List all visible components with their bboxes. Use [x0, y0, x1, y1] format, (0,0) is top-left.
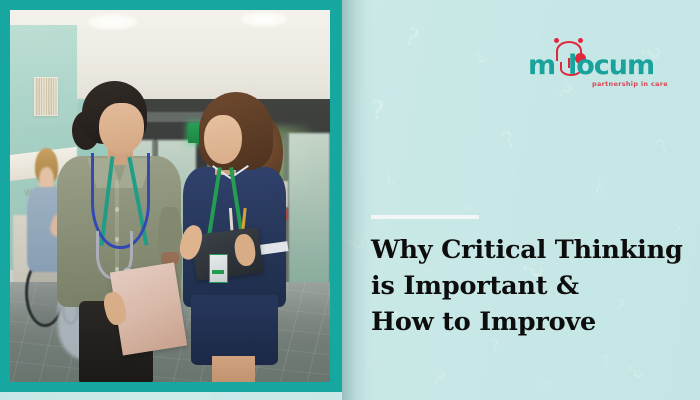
question-mark-icon: ?: [371, 96, 384, 125]
question-mark-icon: ?: [382, 167, 397, 189]
logo-text-locum: locum: [568, 52, 654, 79]
ceiling-light: [240, 12, 288, 27]
title-divider: [371, 215, 479, 219]
foreground-doctor: [48, 81, 189, 382]
headline-line: How to Improve: [371, 304, 681, 340]
question-mark-icon: ?: [499, 127, 520, 153]
question-mark-icon: ?: [653, 135, 673, 156]
stethoscope-earpiece-right: [578, 38, 583, 43]
question-mark-icon: ?: [599, 351, 612, 370]
mylocum-logo[interactable]: m locum partnership in care: [528, 36, 658, 94]
nurse-uniform-skirt: [191, 295, 278, 365]
doctor-face: [99, 103, 144, 154]
question-mark-icon: ?: [457, 201, 475, 216]
question-mark-icon: ?: [343, 237, 367, 249]
question-mark-icon: ?: [360, 351, 374, 368]
banner-canvas: ??????????????????????????: [0, 0, 700, 400]
nurse-legs: [212, 356, 256, 382]
id-badge: [209, 254, 228, 283]
photo-frame: WARD: [0, 0, 342, 392]
headline-line: is Important &: [371, 268, 681, 304]
question-mark-icon: ?: [534, 378, 550, 389]
hospital-corridor-scene: WARD: [10, 10, 330, 382]
question-mark-icon: ?: [594, 176, 604, 196]
headline-line: Why Critical Thinking: [371, 232, 681, 268]
question-mark-icon: ?: [402, 23, 422, 51]
foreground-nurse: [173, 92, 301, 382]
hero-photo: WARD: [10, 10, 330, 382]
stethoscope-earpiece-left: [554, 38, 559, 43]
page-title: Why Critical Thinking is Important & How…: [371, 232, 681, 341]
question-mark-icon: ?: [429, 367, 448, 390]
question-mark-icon: ?: [471, 48, 489, 66]
question-mark-icon: ?: [623, 361, 648, 381]
logo-tagline: partnership in care: [592, 80, 668, 88]
